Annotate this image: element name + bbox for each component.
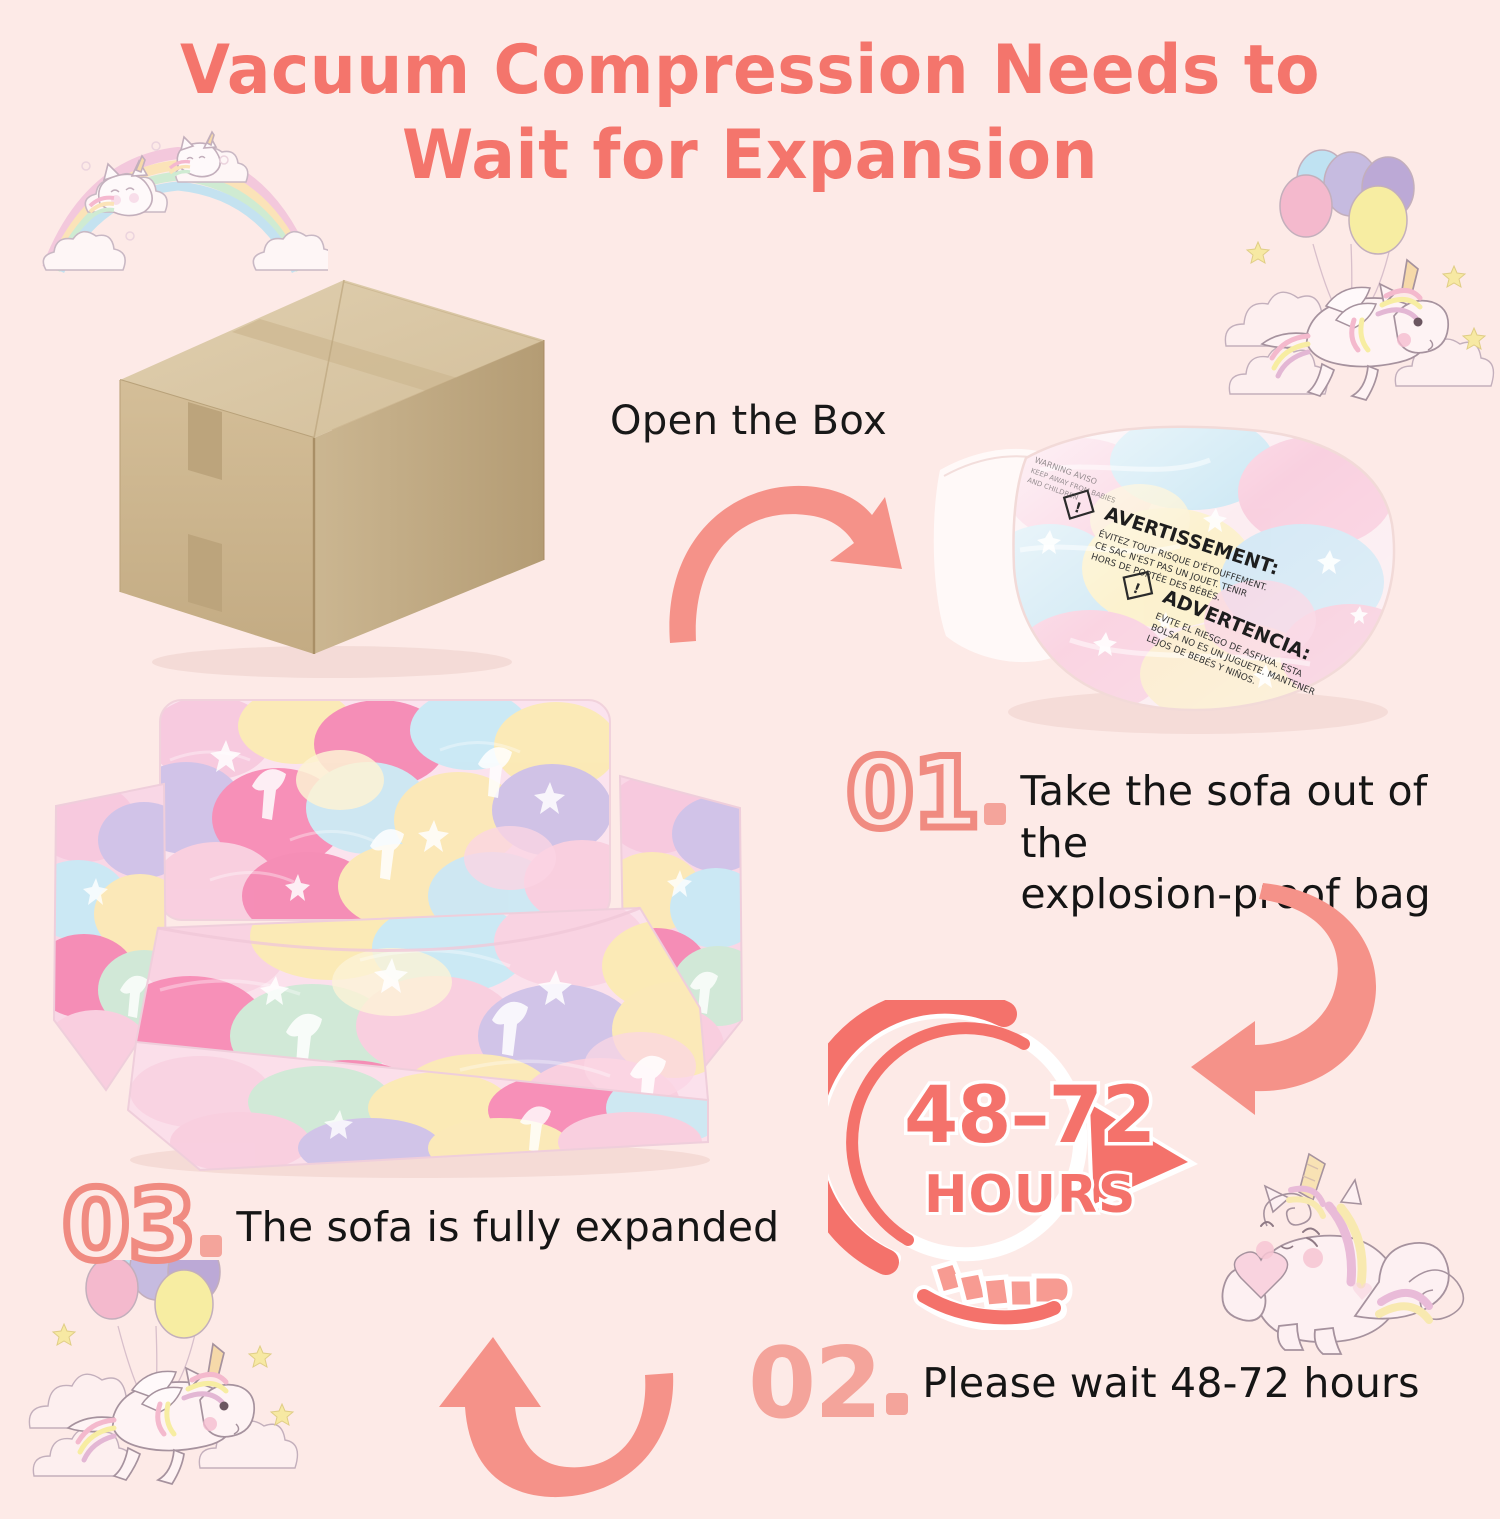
rainbow-unicorn-cats-decoration [28, 108, 328, 288]
vacuum-sealed-bag-figure: ! AVERTISSEMENT: ÉVITEZ TOUT RISQUE D'ÉT… [930, 400, 1430, 750]
hours-badge: 48–72 HOURS [828, 1000, 1238, 1330]
step-03: 03 The sofa is fully expanded [62, 1180, 822, 1273]
rainbow-sofa-figure [40, 690, 760, 1180]
infographic-canvas: Vacuum Compression Needs to Wait for Exp… [0, 0, 1500, 1500]
step-02-text: Please wait 48-72 hours [922, 1358, 1419, 1410]
step-01-period [984, 803, 1006, 825]
open-the-box-label: Open the Box [610, 398, 887, 444]
step-02-number: 02 [748, 1338, 908, 1431]
step-03-number: 03 [62, 1180, 222, 1273]
step-03-text: The sofa is fully expanded [236, 1202, 779, 1254]
cardboard-box-figure [92, 262, 562, 682]
step-03-period [200, 1235, 222, 1257]
curved-arrow-up-icon [415, 1325, 715, 1515]
step-02: 02 Please wait 48-72 hours [748, 1338, 1448, 1431]
step-03-text-line1: The sofa is fully expanded [236, 1202, 779, 1254]
step-02-text-line1: Please wait 48-72 hours [922, 1358, 1419, 1410]
hours-badge-value: 48–72 [904, 1071, 1155, 1161]
curved-arrow-right-icon [640, 465, 950, 665]
step-02-period [886, 1393, 908, 1415]
balloon-unicorn-decoration-top-right [1218, 148, 1500, 418]
balloon-unicorn-decoration-bottom-left [20, 1260, 340, 1500]
step-01-number: 01 [846, 748, 1006, 841]
step-01-text-line1: Take the sofa out of the [1020, 766, 1486, 869]
page-title-line1: Vacuum Compression Needs to [180, 31, 1320, 110]
hours-badge-unit: HOURS [924, 1165, 1136, 1225]
sitting-unicorn-decoration [1195, 1150, 1495, 1370]
